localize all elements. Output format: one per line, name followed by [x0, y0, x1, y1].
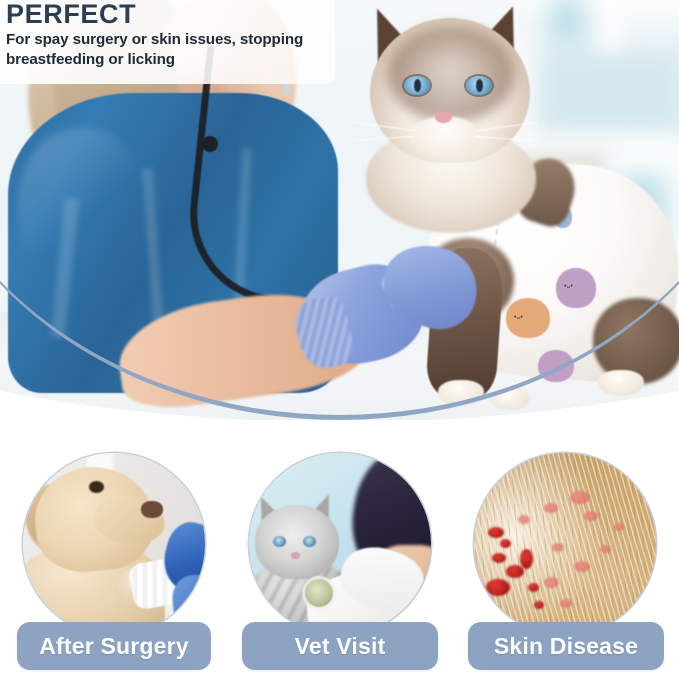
- lesion-15: [544, 577, 559, 588]
- lesion-8: [534, 601, 544, 609]
- hero-subtitle: For spay surgery or skin issues, stoppin…: [6, 30, 325, 70]
- onesie-print-face-3: •ᴗ•: [514, 314, 523, 321]
- hero-banner: •ᴗ• •ᴗ• •ᴗ•: [0, 0, 679, 420]
- card-label-text: Vet Visit: [295, 633, 386, 660]
- lesion-18: [614, 523, 624, 531]
- lesion-3: [492, 553, 506, 563]
- feature-cards: After Surgery V: [0, 440, 679, 679]
- lesion-2: [500, 539, 511, 548]
- cat-paw-rear: [598, 370, 644, 396]
- kitten-head: [255, 505, 339, 579]
- lesion-1: [488, 527, 504, 538]
- lesion-11: [570, 491, 590, 504]
- card-image-vet-visit: [249, 453, 431, 635]
- shelf-post-mid: [598, 0, 622, 48]
- onesie-print-cat-4: [538, 350, 574, 382]
- lesion-16: [560, 599, 572, 608]
- lesion-5: [486, 579, 510, 596]
- card-label-pill-vet-visit[interactable]: Vet Visit: [242, 622, 438, 670]
- lesion-7: [528, 583, 539, 592]
- kitten-eye-left: [273, 536, 286, 547]
- feature-card-vet-visit[interactable]: Vet Visit: [240, 440, 440, 679]
- hero-image-clip: •ᴗ• •ᴗ• •ᴗ•: [0, 0, 679, 420]
- page-title: PERFECT: [6, 0, 325, 28]
- cat-paw-front: [438, 380, 484, 406]
- after-surgery-photo: [23, 453, 205, 635]
- kitten-nose: [291, 552, 300, 559]
- lesion-6: [520, 549, 533, 569]
- cat-pupil-left: [414, 79, 421, 92]
- onesie-print-cat-2: [556, 268, 596, 308]
- cat-color-point-mask: [388, 26, 514, 122]
- card-label-text: Skin Disease: [494, 633, 638, 660]
- card-label-text: After Surgery: [39, 633, 189, 660]
- lesion-4: [506, 565, 524, 578]
- skin-disease-photo: [474, 453, 656, 635]
- lesion-13: [552, 543, 564, 552]
- lesion-12: [584, 511, 598, 521]
- card-label-pill-after-surgery[interactable]: After Surgery: [17, 622, 211, 670]
- feature-card-skin-disease[interactable]: Skin Disease: [465, 440, 665, 679]
- lesion-10: [544, 503, 558, 513]
- kitten-eye-right: [303, 536, 316, 547]
- hero-text-panel: PERFECT For spay surgery or skin issues,…: [0, 0, 335, 84]
- shelf-teal-item: [550, 0, 584, 42]
- lesion-14: [574, 561, 590, 572]
- feature-card-after-surgery[interactable]: After Surgery: [14, 440, 214, 679]
- onesie-print-face-2: •ᴗ•: [564, 283, 573, 290]
- shelf-blue-panel: [538, 48, 679, 134]
- stethoscope-chestpiece: [305, 579, 333, 607]
- cat-pupil-right: [476, 79, 483, 92]
- hero-photo: •ᴗ• •ᴗ• •ᴗ•: [0, 0, 679, 420]
- lesion-17: [600, 545, 611, 553]
- card-image-skin-disease: [474, 453, 656, 635]
- onesie-print-cat-3: [506, 298, 550, 338]
- cat-paw-front-2: [490, 388, 530, 410]
- cat-nose: [435, 111, 452, 123]
- dog-nose: [141, 501, 163, 518]
- lesion-9: [518, 515, 530, 524]
- vet-visit-photo: [249, 453, 431, 635]
- card-label-pill-skin-disease[interactable]: Skin Disease: [468, 622, 664, 670]
- card-image-after-surgery: [23, 453, 205, 635]
- stethoscope-clip: [202, 136, 218, 152]
- dog-eye: [89, 481, 104, 493]
